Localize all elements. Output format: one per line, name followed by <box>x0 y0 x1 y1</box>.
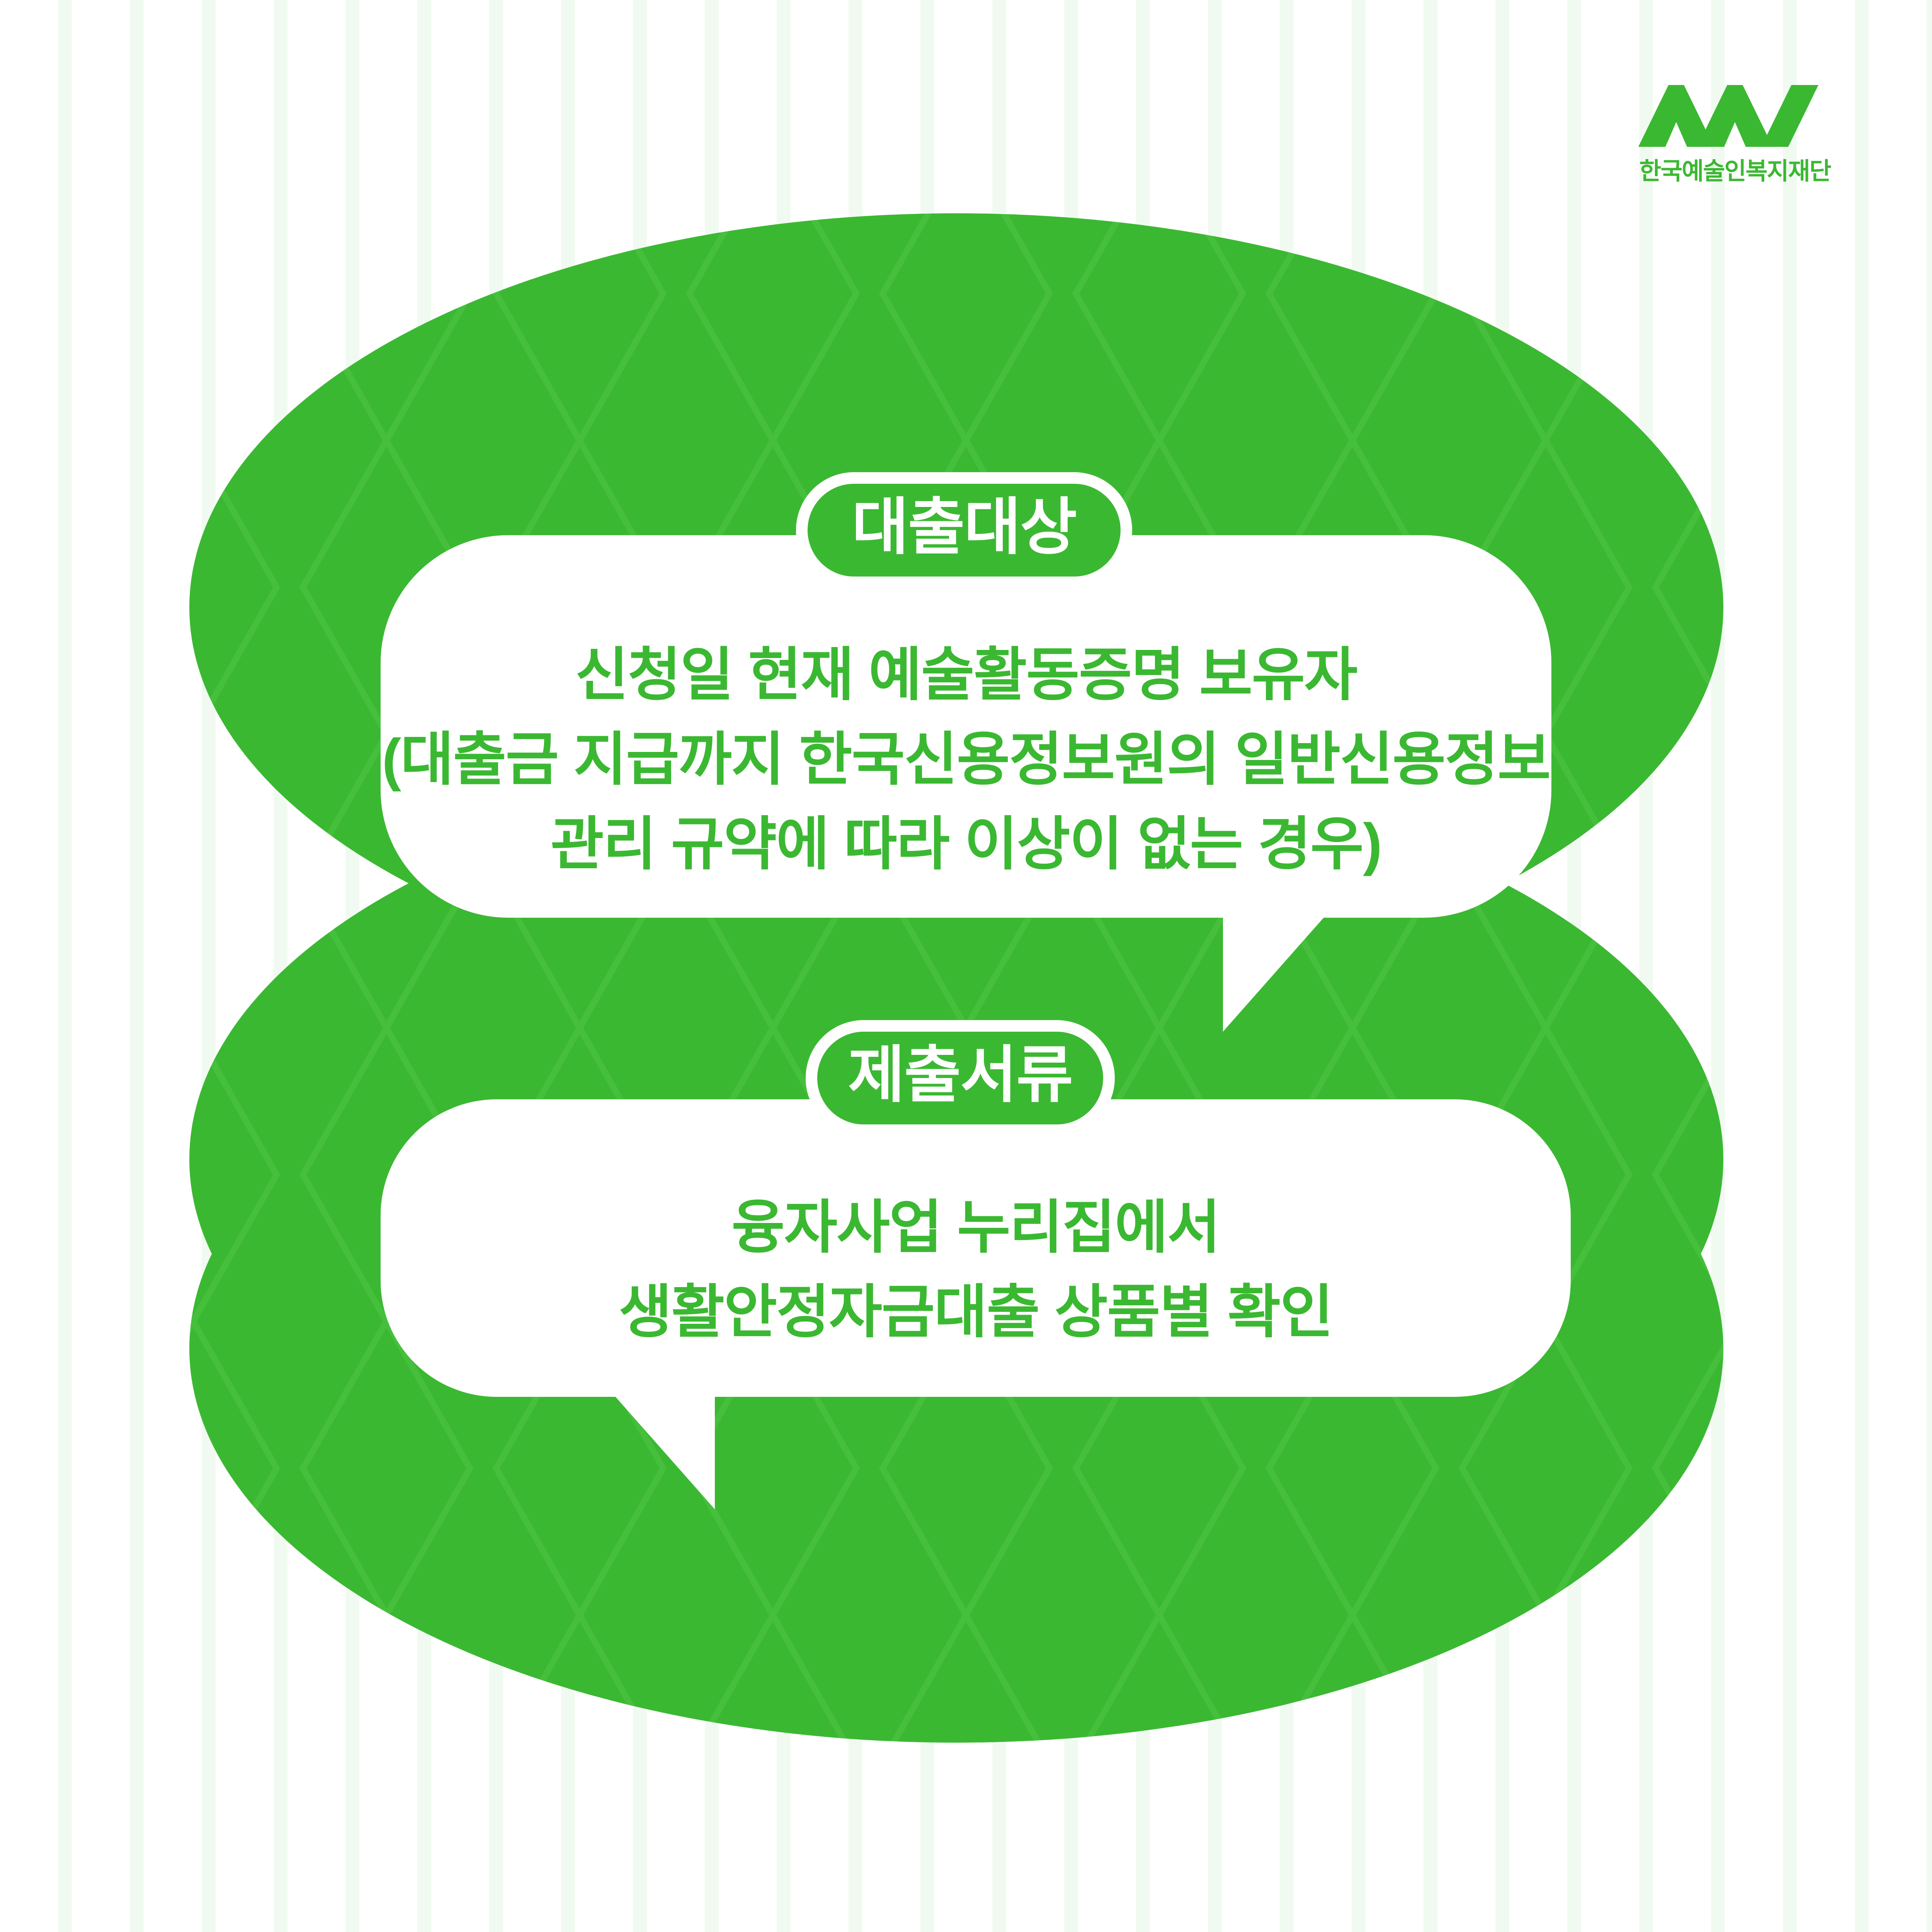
badge-documents-label: 제출서류 <box>848 1044 1073 1106</box>
bubble-tail-loan-target <box>1223 916 1325 1032</box>
documents-line-1: 융자사업 누리집에서 <box>381 1185 1571 1270</box>
loan-target-line-3: 관리 규약에 따라 이상이 없는 경우) <box>381 802 1551 886</box>
aaw-chevron-logo-icon <box>1638 85 1820 147</box>
brand-logo: 한국예술인복지재단 <box>1638 85 1832 186</box>
bubble-documents-text: 융자사업 누리집에서 생활안정자금대출 상품별 확인 <box>381 1185 1571 1354</box>
brand-logo-text: 한국예술인복지재단 <box>1638 151 1832 186</box>
infographic-card: 신청일 현재 예술활동증명 보유자 (대출금 지급까지 한국신용정보원의 일반신… <box>0 0 1932 1932</box>
green-blob-shapes <box>0 0 1932 1932</box>
bubble-documents: 융자사업 누리집에서 생활안정자금대출 상품별 확인 <box>381 1099 1571 1397</box>
badge-documents: 제출서류 <box>806 1020 1115 1136</box>
badge-loan-target: 대출대상 <box>796 472 1132 588</box>
badge-loan-target-label: 대출대상 <box>852 496 1077 558</box>
green-blob-background <box>0 0 1932 1932</box>
documents-line-2: 생활안정자금대출 상품별 확인 <box>381 1270 1571 1354</box>
loan-target-line-2: (대출금 지급까지 한국신용정보원의 일반신용정보 <box>381 717 1551 802</box>
bubble-loan-target-text: 신청일 현재 예술활동증명 보유자 (대출금 지급까지 한국신용정보원의 일반신… <box>381 633 1551 886</box>
bubble-tail-documents <box>612 1393 715 1509</box>
bubble-loan-target: 신청일 현재 예술활동증명 보유자 (대출금 지급까지 한국신용정보원의 일반신… <box>381 535 1551 918</box>
loan-target-line-1: 신청일 현재 예술활동증명 보유자 <box>381 633 1551 717</box>
